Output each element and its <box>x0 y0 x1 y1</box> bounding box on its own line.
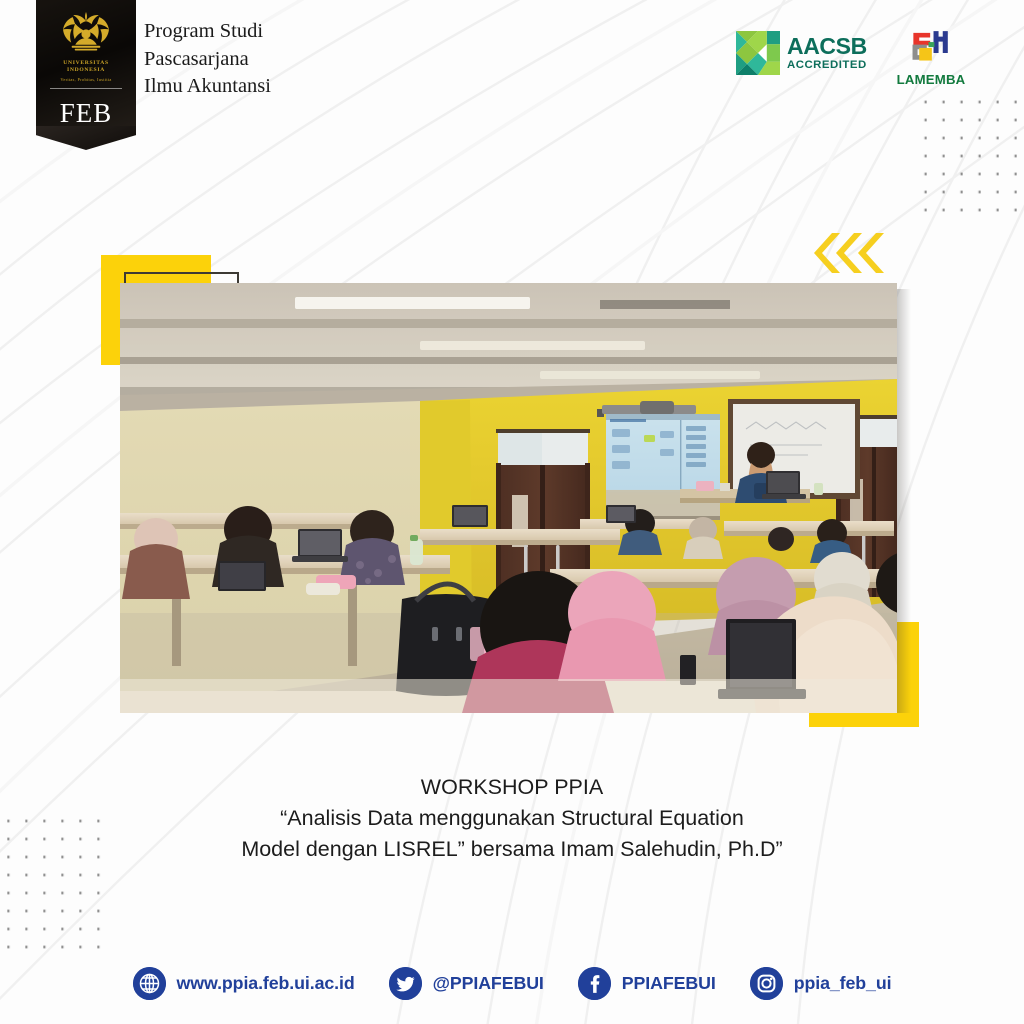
globe-icon <box>133 967 166 1000</box>
instagram-label: ppia_feb_ui <box>794 973 892 994</box>
aacsb-accreditation-logo: AACSB ACCREDITED <box>736 31 867 75</box>
aacsb-wordmark: AACSB ACCREDITED <box>787 35 867 71</box>
footer-item-instagram[interactable]: ppia_feb_ui <box>750 967 892 1000</box>
instagram-icon <box>750 967 783 1000</box>
photo-content <box>120 283 897 713</box>
lamemba-accreditation-logo: LAMEMBA <box>896 26 966 87</box>
program-line-2: Pascasarjana <box>144 46 271 74</box>
program-line-1: Program Studi <box>144 18 271 46</box>
classroom-workshop-photo <box>120 283 897 713</box>
caption-line-2: “Analisis Data menggunakan Structural Eq… <box>0 803 1024 834</box>
website-label: www.ppia.feb.ui.ac.id <box>177 973 355 994</box>
aacsb-logo-icon <box>736 31 780 75</box>
aacsb-status: ACCREDITED <box>787 60 867 71</box>
badge-motto: Veritas, Probitas, Iustitia <box>36 77 136 82</box>
facebook-label: PPIAFEBUI <box>622 973 716 994</box>
footer-item-facebook[interactable]: PPIAFEBUI <box>578 967 716 1000</box>
social-footer: www.ppia.feb.ui.ac.id @PPIAFEBUI PPIAFEB… <box>0 958 1024 1008</box>
lamemba-wordmark: LAMEMBA <box>896 72 966 87</box>
badge-pennant-tip <box>36 126 136 150</box>
caption-line-1: WORKSHOP PPIA <box>0 772 1024 803</box>
badge-divider <box>50 88 122 89</box>
badge-university-name: UNIVERSITAS INDONESIA <box>36 60 136 75</box>
footer-item-website[interactable]: www.ppia.feb.ui.ac.id <box>133 967 355 1000</box>
caption-line-3: Model dengan LISREL” bersama Imam Salehu… <box>0 834 1024 865</box>
twitter-icon <box>389 967 422 1000</box>
program-line-3: Ilmu Akuntansi <box>144 73 271 101</box>
badge-faculty-label: FEB <box>36 98 136 129</box>
triple-chevron-left-icon <box>806 232 886 274</box>
page-title: Program Studi Pascasarjana Ilmu Akuntans… <box>144 18 271 101</box>
caption: WORKSHOP PPIA “Analisis Data menggunakan… <box>0 772 1024 865</box>
workshop-photo <box>120 283 897 713</box>
facebook-icon <box>578 967 611 1000</box>
lamemba-logo-icon <box>910 26 952 64</box>
makara-ui-emblem-icon <box>60 11 112 59</box>
twitter-handle-label: @PPIAFEBUI <box>433 973 544 994</box>
footer-item-twitter[interactable]: @PPIAFEBUI <box>389 967 544 1000</box>
ui-feb-badge: UNIVERSITAS INDONESIA Veritas, Probitas,… <box>36 0 136 150</box>
dot-grid-icon-top-right <box>916 93 1024 225</box>
aacsb-name: AACSB <box>787 35 867 58</box>
